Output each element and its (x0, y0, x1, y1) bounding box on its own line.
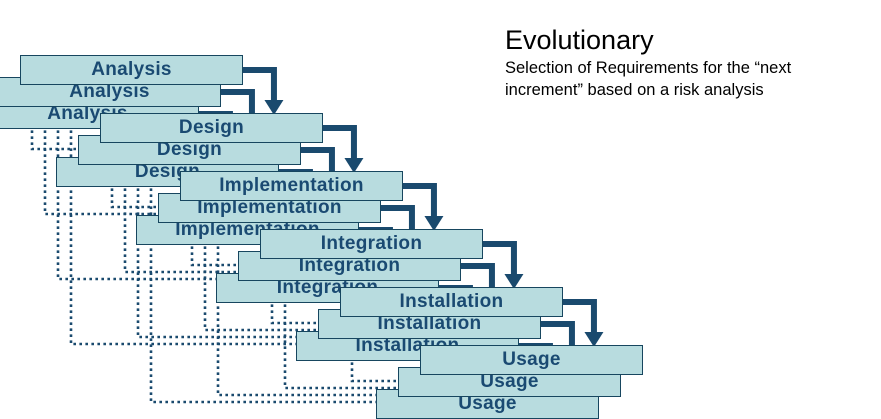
phase-label: Design (100, 113, 323, 143)
phase-box-implementation-2[interactable]: Implementation (180, 171, 403, 201)
phase-box-analysis-2[interactable]: Analysis (20, 55, 243, 85)
phase-label: Implementation (180, 171, 403, 201)
phase-label: Usage (420, 345, 643, 375)
evolutionary-waterfall-diagram: AnalysisAnalysisAnalysisDesignDesignDesi… (0, 0, 881, 407)
phase-box-usage-2[interactable]: Usage (420, 345, 643, 375)
phase-box-integration-2[interactable]: Integration (260, 229, 483, 259)
phase-label: Integration (260, 229, 483, 259)
phase-box-installation-2[interactable]: Installation (340, 287, 563, 317)
phase-box-design-2[interactable]: Design (100, 113, 323, 143)
phase-label: Installation (340, 287, 563, 317)
phase-label: Analysis (20, 55, 243, 85)
